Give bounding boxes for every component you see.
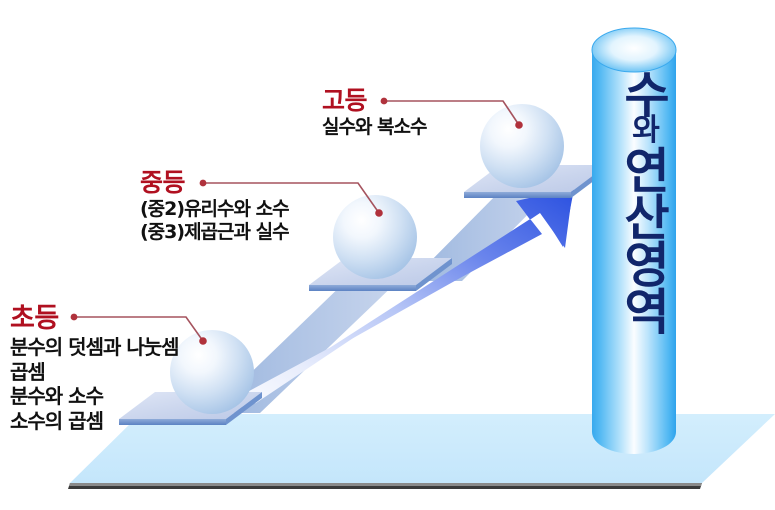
callout-elementary-line-4: 소수의 곱셈 [10, 409, 179, 433]
sphere-high [480, 104, 564, 188]
callout-high-lines: 실수와 복소수 [322, 116, 427, 139]
callout-elementary-line-2: 곱셈 [10, 360, 179, 384]
callout-elementary: 초등 분수의 덧셈과 나눗셈 곱셈 분수와 소수 소수의 곱셈 [10, 305, 179, 433]
sphere-elementary [170, 330, 254, 414]
platform-front-edge [464, 192, 571, 198]
scene-graphics [0, 0, 775, 510]
diagram-canvas: 초등 분수의 덧셈과 나눗셈 곱셈 분수와 소수 소수의 곱셈 중등 (중2)유… [0, 0, 775, 510]
callout-elementary-lines: 분수의 덧셈과 나눗셈 곱셈 분수와 소수 소수의 곱셈 [10, 335, 179, 433]
platform-front-edge [309, 285, 416, 291]
leader-dot-target-elementary [199, 337, 207, 345]
pillar-cylinder [592, 28, 676, 454]
callout-middle-line-1: (중2)유리수와 소수 [140, 198, 289, 221]
callout-high: 고등 실수와 복소수 [322, 88, 427, 139]
callout-middle-lines: (중2)유리수와 소수 (중3)제곱근과 실수 [140, 198, 289, 244]
callout-elementary-line-1: 분수의 덧셈과 나눗셈 [10, 335, 179, 359]
callout-high-title: 고등 [322, 88, 427, 114]
leader-dot-target-high [515, 121, 523, 129]
callout-middle-title: 중등 [140, 170, 289, 196]
callout-elementary-title: 초등 [10, 305, 179, 333]
callout-high-line-1: 실수와 복소수 [322, 116, 427, 139]
pillar-body [592, 50, 676, 454]
callout-middle: 중등 (중2)유리수와 소수 (중3)제곱근과 실수 [140, 170, 289, 245]
callout-middle-line-2: (중3)제곱근과 실수 [140, 221, 289, 244]
callout-elementary-line-3: 분수와 소수 [10, 384, 179, 408]
ground-shadow-highlight [69, 483, 702, 486]
leader-dot-target-middle [375, 209, 383, 217]
